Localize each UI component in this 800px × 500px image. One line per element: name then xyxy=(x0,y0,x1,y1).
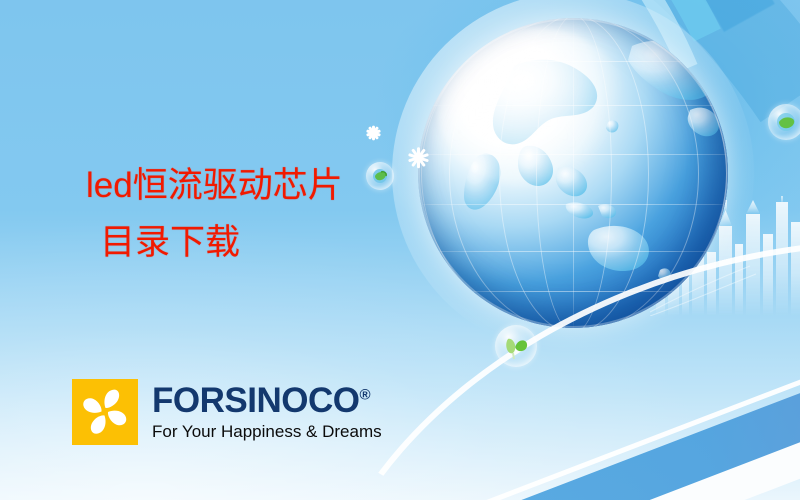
headline-line-1: led恒流驱动芯片 xyxy=(86,166,343,205)
bubble-leaf xyxy=(495,325,537,367)
sparkle-flower-1 xyxy=(405,145,431,171)
trademark-symbol: ® xyxy=(359,386,370,403)
brand-name-text: FORSINOCO xyxy=(152,381,359,420)
brand-tagline: For Your Happiness & Dreams xyxy=(152,423,382,440)
headline-line-2: 目录下载 xyxy=(100,225,343,260)
promo-banner: led恒流驱动芯片 目录下载 FORSINOCO® For Your Happi… xyxy=(0,0,800,500)
sparkle-flower-2 xyxy=(364,124,382,142)
bubble-corner xyxy=(768,104,800,140)
bubble-globe xyxy=(366,162,394,190)
pinwheel-flower-icon xyxy=(72,379,138,445)
brand-name: FORSINOCO® xyxy=(152,383,382,418)
headline: led恒流驱动芯片 目录下载 xyxy=(86,168,343,260)
brand-logo[interactable]: FORSINOCO® For Your Happiness & Dreams xyxy=(72,379,382,445)
logo-text-block: FORSINOCO® For Your Happiness & Dreams xyxy=(152,379,382,440)
